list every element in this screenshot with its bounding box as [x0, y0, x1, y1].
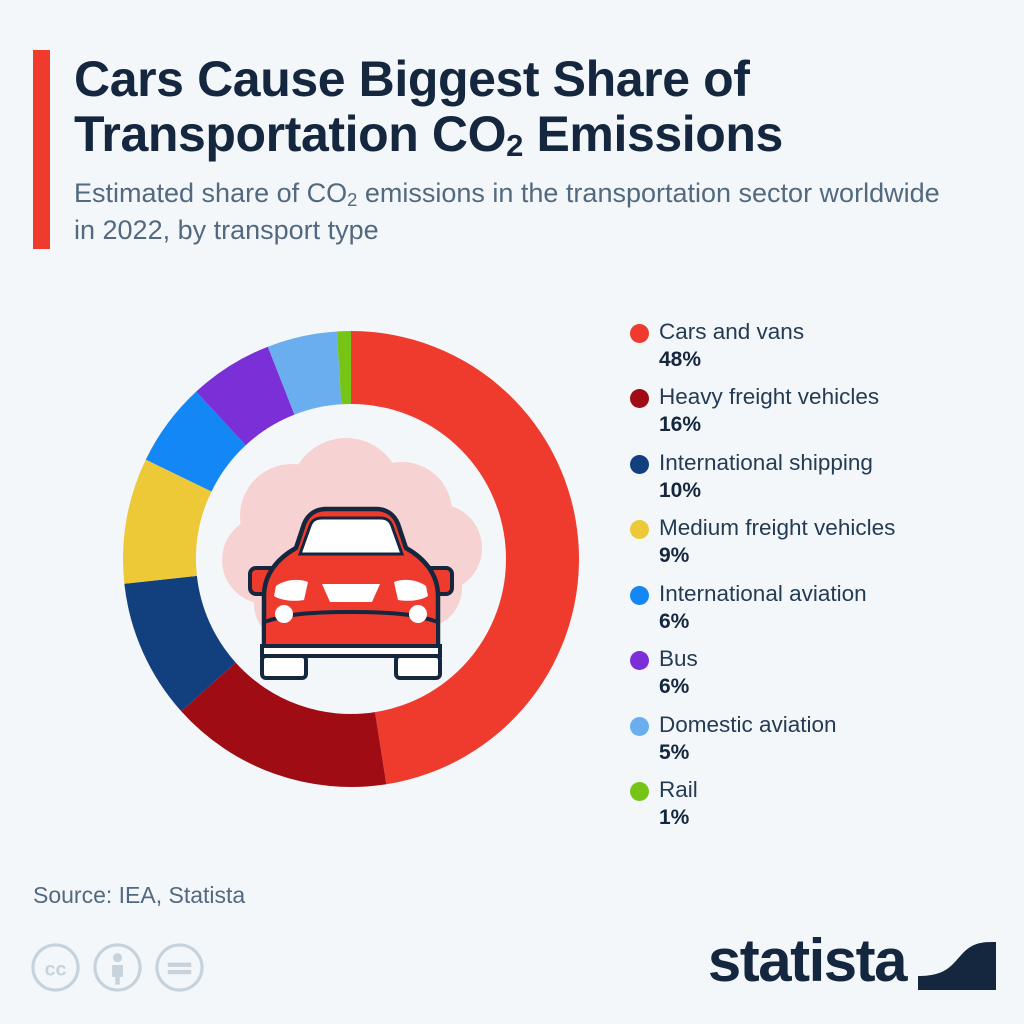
- legend-label: Medium freight vehicles: [659, 514, 1000, 541]
- legend-color-swatch: [630, 717, 649, 736]
- legend-item[interactable]: Medium freight vehicles9%: [630, 514, 1000, 571]
- statista-wordmark: statista: [708, 931, 906, 991]
- legend-text: Cars and vans48%: [659, 318, 1000, 375]
- car-with-exhaust-cloud-icon: [200, 408, 502, 710]
- chart-legend: Cars and vans48%Heavy freight vehicles16…: [630, 318, 1000, 842]
- title-subscript: 2: [506, 128, 523, 163]
- donut-chart: [108, 316, 594, 802]
- legend-text: Heavy freight vehicles16%: [659, 383, 1000, 440]
- legend-text: Bus6%: [659, 645, 1000, 702]
- legend-label: Heavy freight vehicles: [659, 383, 1000, 410]
- legend-label: Cars and vans: [659, 318, 1000, 345]
- legend-label: Domestic aviation: [659, 711, 1000, 738]
- legend-color-swatch: [630, 455, 649, 474]
- legend-item[interactable]: Bus6%: [630, 645, 1000, 702]
- header: Cars Cause Biggest Share of Transportati…: [33, 50, 983, 249]
- legend-label: Rail: [659, 776, 1000, 803]
- statista-logo-mark-icon: [918, 930, 996, 990]
- title-line-2-pre: Transportation CO: [74, 106, 506, 162]
- legend-item[interactable]: Cars and vans48%: [630, 318, 1000, 375]
- legend-value: 1%: [659, 803, 1000, 833]
- title-line-2-post: Emissions: [523, 106, 783, 162]
- legend-value: 16%: [659, 410, 1000, 440]
- title-line-1: Cars Cause Biggest Share of: [74, 51, 750, 107]
- accent-bar: [33, 50, 50, 249]
- source-text: Source: IEA, Statista: [33, 882, 245, 909]
- legend-item[interactable]: Heavy freight vehicles16%: [630, 383, 1000, 440]
- legend-value: 6%: [659, 672, 1000, 702]
- legend-value: 9%: [659, 541, 1000, 571]
- legend-text: Rail1%: [659, 776, 1000, 833]
- page-subtitle: Estimated share of CO2 emissions in the …: [74, 175, 954, 249]
- legend-text: Domestic aviation5%: [659, 711, 1000, 768]
- creative-commons-icons: cc: [30, 942, 205, 993]
- cc-by-icon: [92, 942, 143, 993]
- legend-value: 5%: [659, 738, 1000, 768]
- legend-text: International aviation6%: [659, 580, 1000, 637]
- infographic-root: Cars Cause Biggest Share of Transportati…: [0, 0, 1024, 1024]
- statista-logo: statista: [708, 930, 996, 992]
- legend-value: 6%: [659, 607, 1000, 637]
- legend-color-swatch: [630, 586, 649, 605]
- header-text: Cars Cause Biggest Share of Transportati…: [74, 50, 983, 249]
- legend-text: International shipping10%: [659, 449, 1000, 506]
- subtitle-pre: Estimated share of CO: [74, 178, 347, 208]
- legend-color-swatch: [630, 389, 649, 408]
- legend-color-swatch: [630, 782, 649, 801]
- legend-item[interactable]: International shipping10%: [630, 449, 1000, 506]
- svg-text:cc: cc: [45, 958, 67, 980]
- legend-text: Medium freight vehicles9%: [659, 514, 1000, 571]
- cc-nd-icon: [154, 942, 205, 993]
- legend-item[interactable]: International aviation6%: [630, 580, 1000, 637]
- legend-item[interactable]: Rail1%: [630, 776, 1000, 833]
- legend-value: 10%: [659, 476, 1000, 506]
- page-title: Cars Cause Biggest Share of Transportati…: [74, 52, 974, 161]
- subtitle-subscript: 2: [347, 189, 357, 210]
- legend-item[interactable]: Domestic aviation5%: [630, 711, 1000, 768]
- legend-value: 48%: [659, 345, 1000, 375]
- legend-label: International shipping: [659, 449, 1000, 476]
- legend-color-swatch: [630, 520, 649, 539]
- legend-color-swatch: [630, 324, 649, 343]
- legend-label: International aviation: [659, 580, 1000, 607]
- cc-icon: cc: [30, 942, 81, 993]
- legend-label: Bus: [659, 645, 1000, 672]
- legend-color-swatch: [630, 651, 649, 670]
